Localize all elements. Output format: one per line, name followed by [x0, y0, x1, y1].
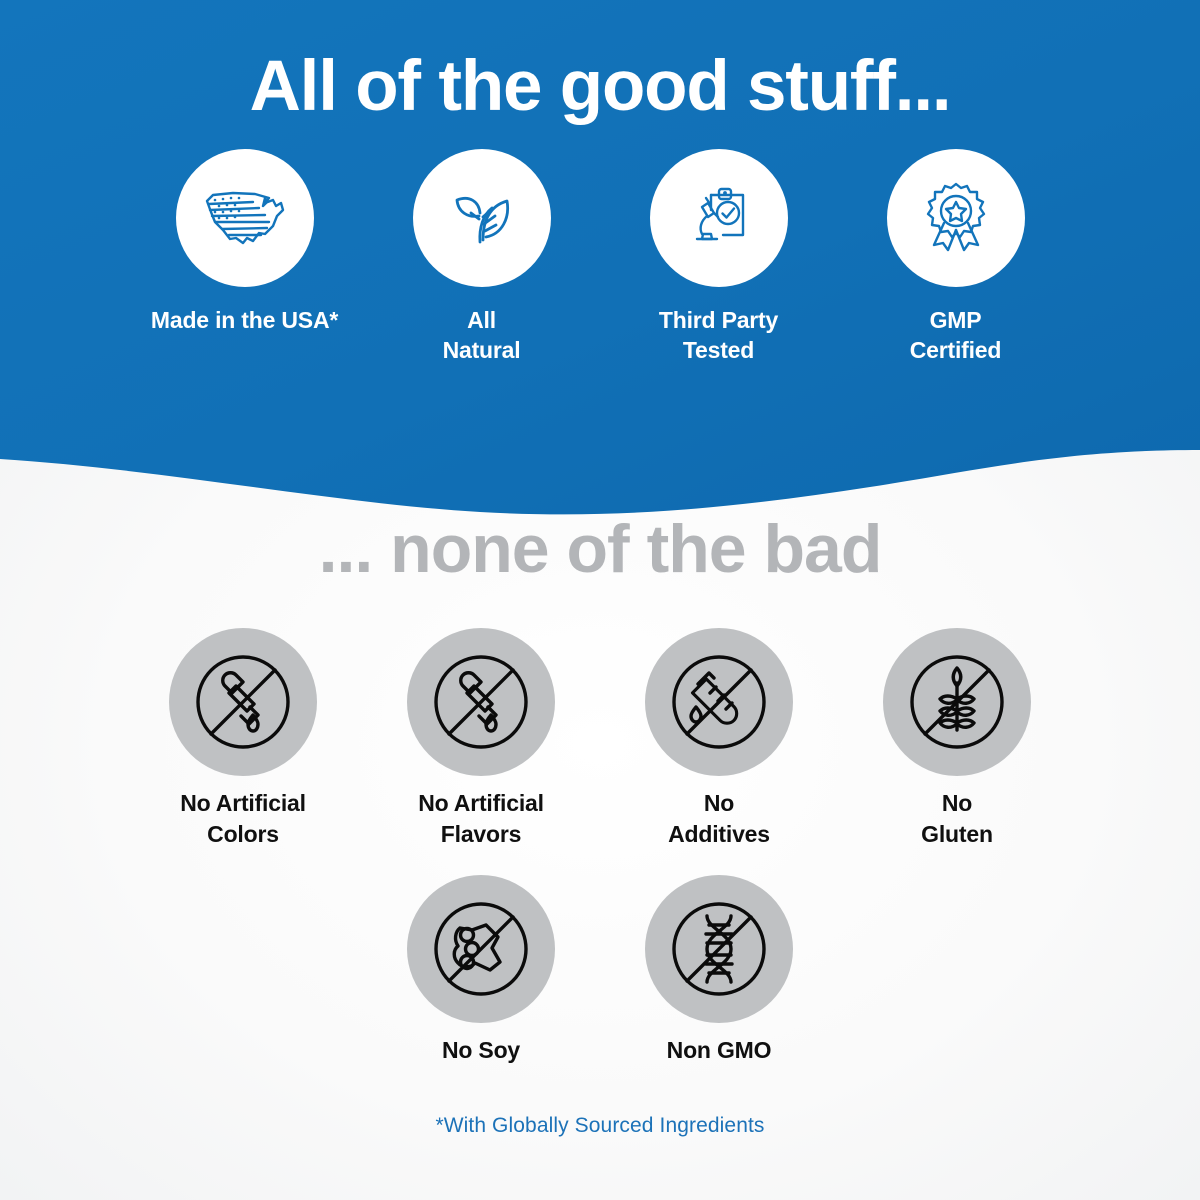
good-items-row: Made in the USA* All Natural: [0, 149, 1200, 366]
good-icon-circle: [650, 149, 788, 287]
good-item-label: All Natural: [443, 305, 521, 366]
good-item-gmp-certified[interactable]: GMP Certified: [852, 149, 1060, 366]
bad-headline: ... none of the bad: [0, 515, 1200, 583]
award-rosette-icon: [922, 181, 990, 255]
bad-item-no-artificial-colors[interactable]: No Artificial Colors: [139, 628, 347, 849]
bad-item-no-soy[interactable]: No Soy: [377, 875, 585, 1066]
good-icon-circle: [887, 149, 1025, 287]
bad-section: ... none of the bad: [0, 515, 1200, 1138]
good-item-third-party-tested[interactable]: Third Party Tested: [615, 149, 823, 366]
bad-item-label: No Artificial Colors: [180, 788, 306, 849]
bad-item-no-gluten[interactable]: No Gluten: [853, 628, 1061, 849]
bad-item-non-gmo[interactable]: Non GMO: [615, 875, 823, 1066]
microscope-clipboard-check-icon: [683, 182, 755, 254]
good-item-label: Third Party Tested: [659, 305, 778, 366]
good-headline: All of the good stuff...: [0, 0, 1200, 125]
usa-map-flag-icon: [203, 186, 287, 250]
bad-item-no-artificial-flavors[interactable]: No Artificial Flavors: [377, 628, 585, 849]
bad-item-label: No Additives: [668, 788, 770, 849]
bad-icon-circle: [883, 628, 1031, 776]
no-wheat-icon: [900, 645, 1014, 759]
footnote-text: *With Globally Sourced Ingredients: [0, 1114, 1200, 1138]
good-item-label: GMP Certified: [910, 305, 1002, 366]
good-item-all-natural[interactable]: All Natural: [378, 149, 586, 366]
no-dropper-icon: [424, 645, 538, 759]
bad-item-no-additives[interactable]: No Additives: [615, 628, 823, 849]
bad-item-label: No Gluten: [921, 788, 993, 849]
bad-icon-circle: [645, 875, 793, 1023]
bad-item-label: Non GMO: [667, 1035, 772, 1066]
infographic-root: All of the good stuff...: [0, 0, 1200, 1200]
bad-icon-circle: [645, 628, 793, 776]
no-dna-icon: [662, 892, 776, 1006]
bad-icon-circle: [169, 628, 317, 776]
bad-items-row-2: No Soy Non GMO: [0, 875, 1200, 1066]
bad-items-row-1: No Artificial Colors: [0, 628, 1200, 849]
bad-icon-circle: [407, 628, 555, 776]
good-item-made-in-usa[interactable]: Made in the USA*: [141, 149, 349, 336]
bad-item-label: No Artificial Flavors: [418, 788, 544, 849]
no-soybean-icon: [424, 892, 538, 1006]
bad-icon-circle: [407, 875, 555, 1023]
no-test-tube-icon: [662, 645, 776, 759]
good-item-label: Made in the USA*: [151, 305, 338, 336]
good-icon-circle: [176, 149, 314, 287]
leaf-icon: [446, 182, 518, 254]
good-icon-circle: [413, 149, 551, 287]
good-section: All of the good stuff...: [0, 0, 1200, 366]
bad-item-label: No Soy: [442, 1035, 520, 1066]
no-dropper-icon: [186, 645, 300, 759]
